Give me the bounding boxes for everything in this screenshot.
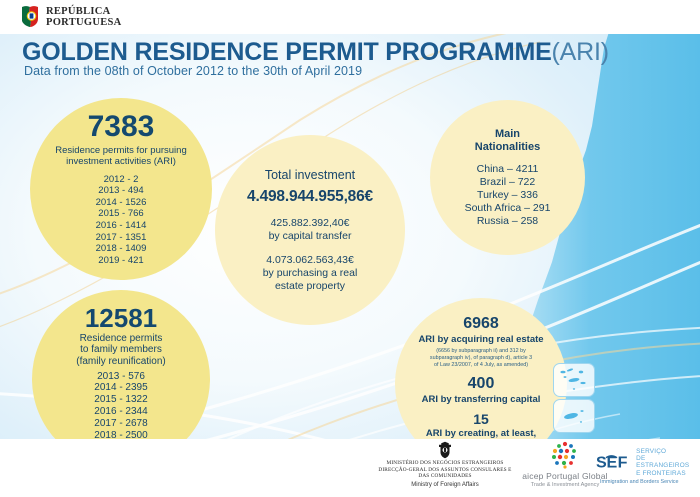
caption-line-2: to family members — [76, 344, 165, 356]
ari-permits-value: 7383 — [88, 112, 155, 142]
real-estate-label-line1: by purchasing a real — [263, 267, 358, 280]
heading-line-1: Main — [475, 128, 540, 141]
jobs-count-label-line1: ARI by creating, at least, — [426, 428, 536, 439]
family-permits-caption: Residence permits to family members (fam… — [76, 333, 165, 368]
capital-count-label: ARI by transferring capital — [422, 394, 541, 405]
capital-transfer-label: by capital transfer — [269, 230, 352, 243]
total-investment-value: 4.498.944.955,86€ — [247, 188, 373, 206]
capital-transfer-block: 425.882.392,40€ by capital transfer — [269, 217, 352, 243]
sef-full-name: SERVIÇO DE ESTRANGEIROS E FRONTEIRAS — [636, 448, 696, 477]
svg-text:S: S — [596, 454, 607, 472]
list-item: 2014 - 1526 — [96, 197, 147, 209]
sef-logo-row: S E F SERVIÇO DE ESTRANGEIROS E FRONTEIR… — [596, 448, 696, 477]
portuguese-shield-icon — [20, 5, 40, 29]
jobs-count: 15 — [426, 412, 536, 426]
sef-wordmark-icon: S E F — [596, 451, 633, 473]
list-item: 2016 - 2344 — [94, 406, 147, 418]
list-item: 2015 - 766 — [96, 208, 147, 220]
ministry-logo-block: MINISTÉRIO DOS NEGÓCIOS ESTRANGEIROS DIR… — [372, 441, 518, 488]
aicep-globe-icon — [550, 440, 580, 470]
real-estate-amount: 4.073.062.563,43€ — [263, 254, 358, 267]
sef-name-line-3: E FRONTEIRAS — [636, 470, 696, 477]
legal-note-line-3: of Law 23/2007, of 4 July, as amended) — [430, 362, 532, 369]
ministry-name-pt: MINISTÉRIO DOS NEGÓCIOS ESTRANGEIROS DIR… — [372, 460, 518, 480]
republica-portuguesa-logo: REPÚBLICA PORTUGUESA — [20, 5, 122, 29]
page-title-main: GOLDEN RESIDENCE PERMIT PROGRAMME — [22, 38, 552, 66]
list-item: Russia – 258 — [465, 215, 551, 228]
total-investment-label: Total investment — [265, 168, 355, 182]
list-item: 2012 - 2 — [96, 174, 147, 186]
sef-logo-block: S E F SERVIÇO DE ESTRANGEIROS E FRONTEIR… — [596, 448, 696, 485]
main-nationalities-circle: Main Nationalities China – 4211 Brazil –… — [430, 100, 585, 255]
ministry-crest-icon — [436, 441, 454, 459]
caption-line-1: Residence permits — [76, 333, 165, 345]
heading-line-2: Nationalities — [475, 141, 540, 154]
list-item: 2014 - 2395 — [94, 382, 147, 394]
emblem-line-2: PORTUGUESA — [46, 17, 122, 28]
legal-note-line-2: subparagraph iv), of paragraph d), artic… — [430, 355, 532, 362]
ari-permits-year-list: 2012 - 2 2013 - 494 2014 - 1526 2015 - 7… — [96, 174, 147, 267]
caption-line-3: (family reunification) — [76, 356, 165, 368]
page-subtitle: Data from the 08th of October 2012 to th… — [24, 64, 362, 78]
list-item: 2013 - 494 — [96, 185, 147, 197]
total-investment-circle: Total investment 4.498.944.955,86€ 425.8… — [215, 135, 405, 325]
list-item: Brazil – 722 — [465, 176, 551, 189]
capital-breakdown: 400 ARI by transferring capital — [422, 376, 541, 405]
sef-tagline: Immigration and Borders Service — [600, 479, 696, 485]
list-item: 2013 - 576 — [94, 371, 147, 383]
real-estate-breakdown: 6968 ARI by acquiring real estate (6656 … — [416, 316, 546, 369]
list-item: 2017 - 2678 — [94, 418, 147, 430]
svg-text:F: F — [618, 454, 628, 472]
list-item: 2019 - 421 — [96, 255, 147, 267]
page-title: GOLDEN RESIDENCE PERMIT PROGRAMME(ARI) — [22, 38, 609, 67]
sef-name-line-2: DE ESTRANGEIROS — [636, 455, 696, 469]
real-estate-legal-note: (6656 by subparagraph ii) and 312 by sub… — [416, 348, 546, 369]
list-item: South Africa – 291 — [465, 202, 551, 215]
main-nationalities-heading: Main Nationalities — [475, 128, 540, 154]
capital-transfer-amount: 425.882.392,40€ — [269, 217, 352, 230]
capital-count: 400 — [422, 376, 541, 392]
madeira-inset-box — [553, 399, 595, 433]
azores-islands-icon — [554, 364, 596, 398]
page-title-suffix: (ARI) — [552, 38, 609, 66]
list-item: 2017 - 1351 — [96, 232, 147, 244]
real-estate-block: 4.073.062.563,43€ by purchasing a real e… — [263, 254, 358, 293]
ari-permits-circle: 7383 Residence permits for pursuing inve… — [30, 98, 212, 280]
madeira-island-icon — [554, 400, 596, 434]
azores-inset-box — [553, 363, 595, 397]
list-item: 2016 - 1414 — [96, 220, 147, 232]
list-item: China – 4211 — [465, 163, 551, 176]
ministry-line-3: DAS COMUNIDADES — [372, 473, 518, 480]
legal-note-line-1: (6656 by subparagraph ii) and 312 by — [430, 348, 532, 355]
list-item: 2015 - 1322 — [94, 394, 147, 406]
list-item: Turkey – 336 — [465, 189, 551, 202]
nationalities-list: China – 4211 Brazil – 722 Turkey – 336 S… — [465, 163, 551, 228]
emblem-line-1: REPÚBLICA — [46, 6, 122, 17]
ari-permits-caption: Residence permits for pursuing investmen… — [30, 145, 212, 168]
ministry-name-en: Ministry of Foreign Affairs — [372, 482, 518, 488]
list-item: 2018 - 1409 — [96, 243, 147, 255]
real-estate-count-label: ARI by acquiring real estate — [416, 334, 546, 345]
real-estate-label-line2: estate property — [263, 280, 358, 293]
republica-portuguesa-text: REPÚBLICA PORTUGUESA — [46, 6, 122, 28]
sef-name-line-1: SERVIÇO — [636, 448, 696, 455]
real-estate-count: 6968 — [416, 316, 546, 332]
ministry-line-1: MINISTÉRIO DOS NEGÓCIOS ESTRANGEIROS — [372, 460, 518, 467]
infographic-poster: REPÚBLICA PORTUGUESA GOLDEN RESIDENCE PE… — [0, 0, 700, 497]
ministry-line-2: DIRECÇÃO-GERAL DOS ASSUNTOS CONSULARES E — [372, 467, 518, 474]
family-permits-value: 12581 — [85, 305, 157, 331]
